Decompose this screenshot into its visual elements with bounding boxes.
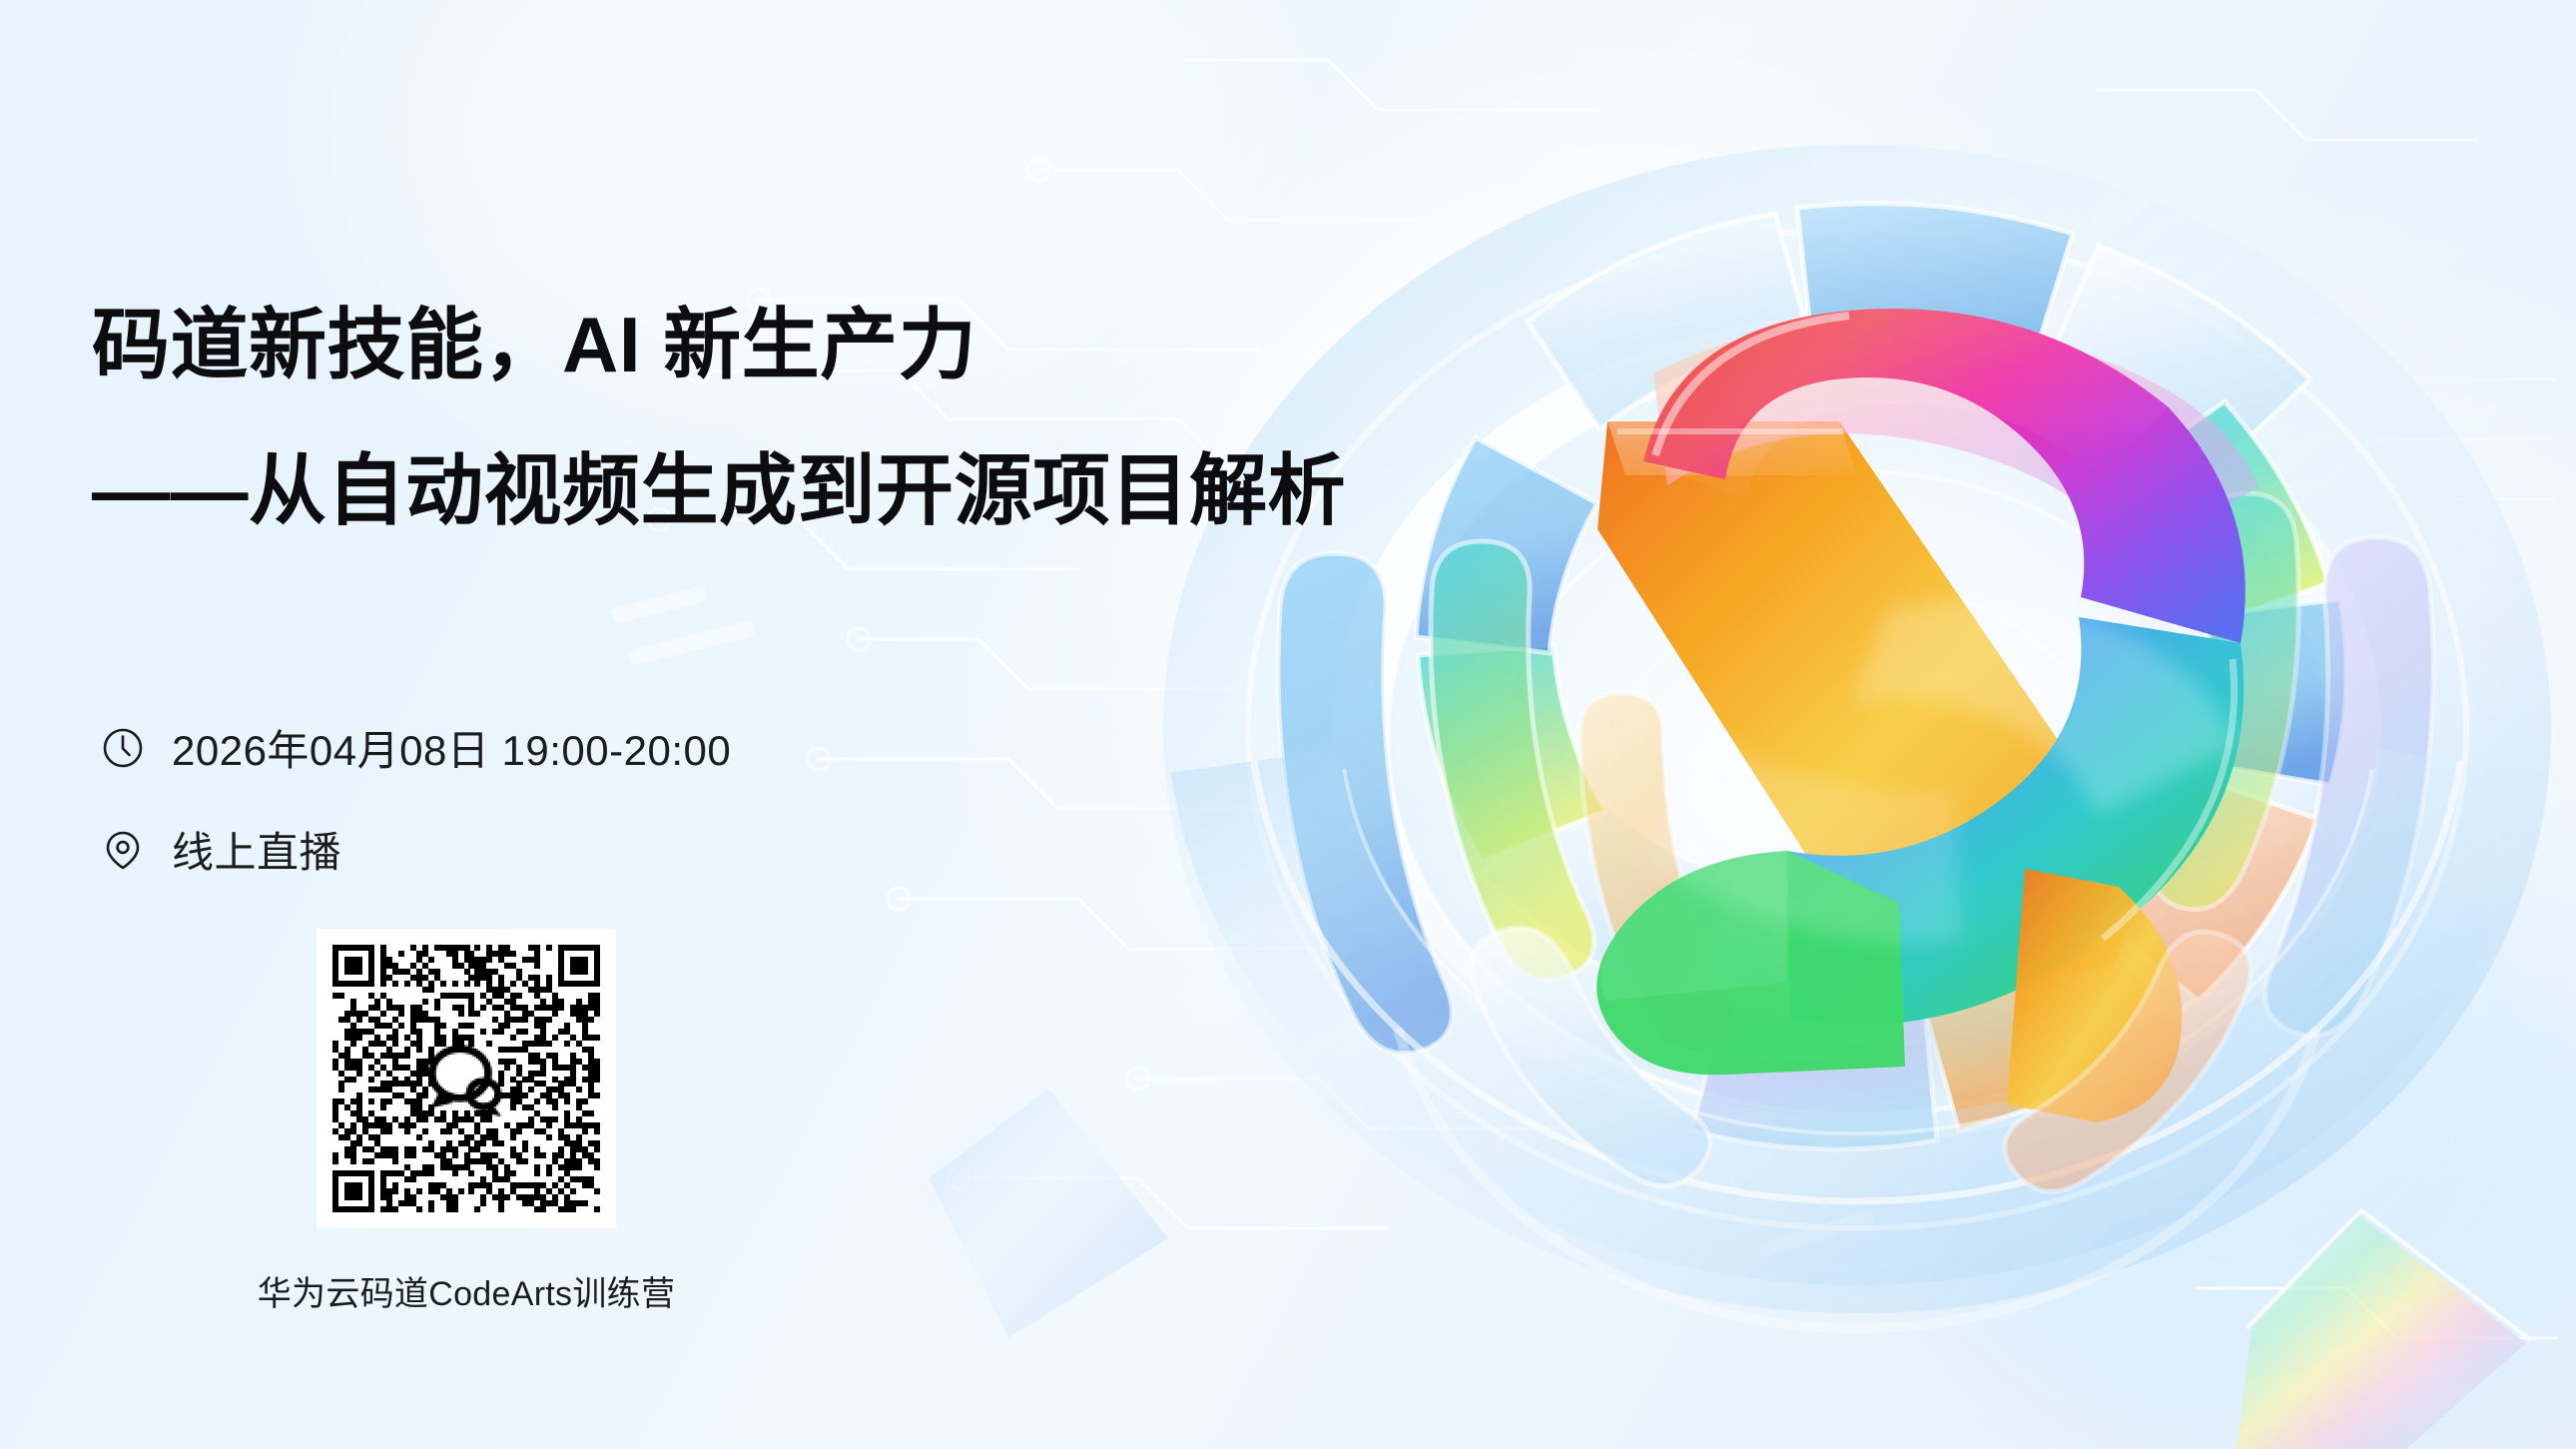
- location-pin-icon: [100, 827, 146, 873]
- qr-code-caption: 华为云码道CodeArts训练营: [232, 1266, 701, 1315]
- ring-back: [1248, 230, 2466, 1228]
- ring-panels: [1416, 204, 2346, 1149]
- qr-code-canvas: [332, 945, 600, 1212]
- event-datetime-row: 2026年04月08日 19:00-20:00: [100, 717, 731, 778]
- glass-blades-right: [2154, 493, 2433, 1036]
- headline-line-2: ——从自动视频生成到开源项目解析: [92, 451, 1346, 529]
- light-bloom-bottom-right: [1877, 819, 2576, 1438]
- event-datetime-label: 2026年04月08日 19:00-20:00: [172, 717, 731, 778]
- ring-front: [1248, 230, 2466, 1228]
- event-location-label: 线上直播: [172, 819, 341, 880]
- headline-line-1: 码道新技能，AI 新生产力: [92, 306, 976, 383]
- event-poster: 码道新技能，AI 新生产力 ——从自动视频生成到开源项目解析 2026年04月0…: [0, 0, 2576, 1449]
- glass-blades-front: [1472, 928, 2252, 1191]
- qr-code[interactable]: [317, 929, 616, 1228]
- rainbow-ribbon: [1597, 309, 2258, 1122]
- clock-icon: [100, 725, 146, 771]
- poster-content: 码道新技能，AI 新生产力 ——从自动视频生成到开源项目解析 2026年04月0…: [92, 0, 1410, 1449]
- event-location-row: 线上直播: [100, 819, 341, 880]
